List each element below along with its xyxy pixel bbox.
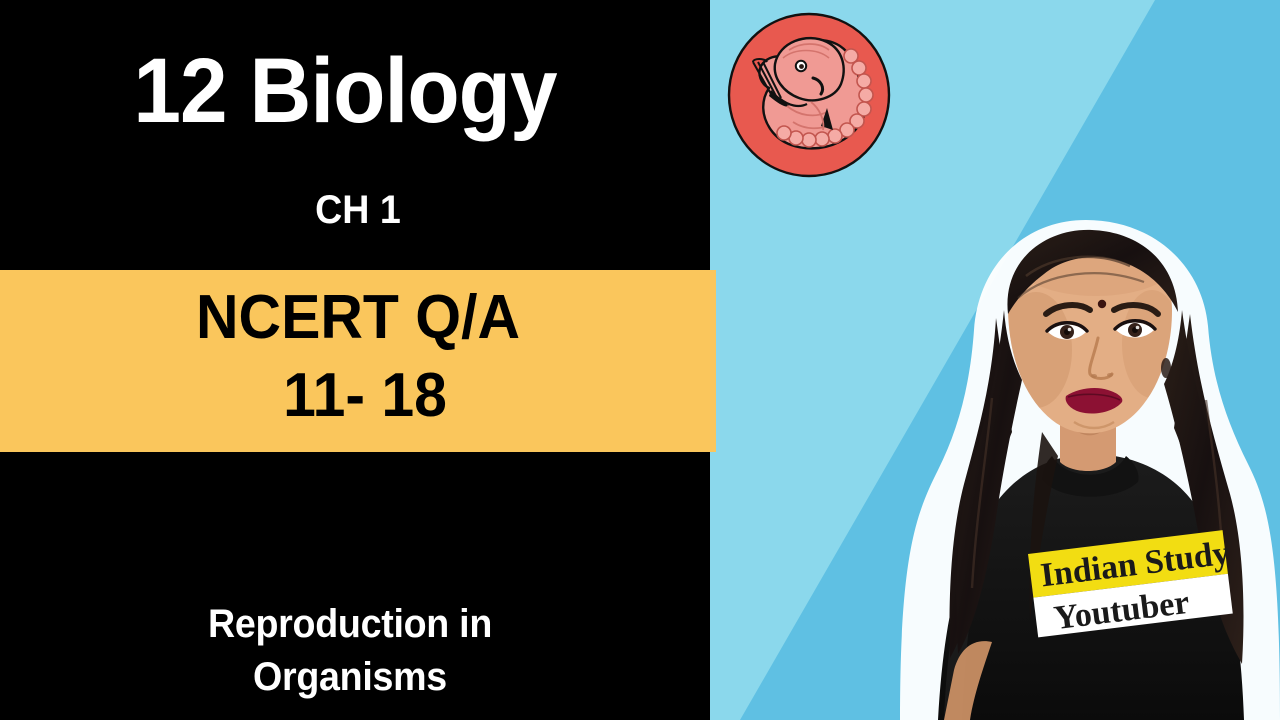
topic-caption: Reproduction in Organisms — [21, 598, 679, 704]
page-title: 12 Biology — [24, 45, 666, 137]
embryo-fetus-icon — [727, 12, 891, 178]
presenter-photo: Indian Study Youtuber — [900, 218, 1280, 720]
caption-line-2: Organisms — [21, 651, 679, 704]
chapter-label: CH 1 — [21, 188, 694, 232]
banner-range: 11- 18 — [18, 362, 712, 430]
highlight-banner: NCERT Q/A 11- 18 — [0, 270, 716, 452]
caption-line-1: Reproduction in — [21, 598, 679, 651]
thumbnail-canvas: 12 Biology CH 1 NCERT Q/A 11- 18 Reprodu… — [0, 0, 1280, 720]
banner-title: NCERT Q/A — [18, 284, 698, 352]
